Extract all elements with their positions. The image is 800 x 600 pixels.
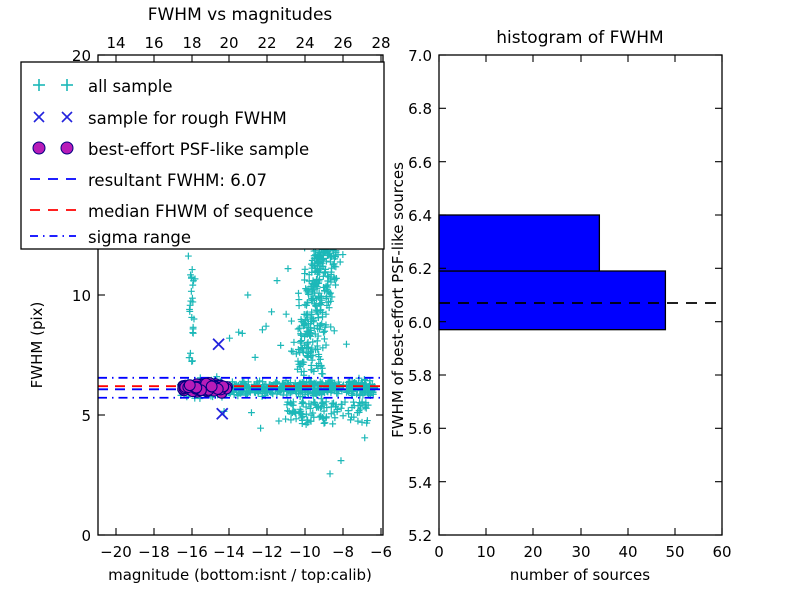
legend-label: sample for rough FWHM [88, 109, 287, 128]
y-tick-label: 6.8 [408, 100, 432, 118]
legend: all sample sample for rough FWHM best-ef… [21, 62, 384, 249]
figure-canvas: FWHM vs magnitudes 14 16 18 20 22 24 26 … [0, 0, 800, 600]
scatter-point [184, 380, 195, 391]
legend-label: resultant FWHM: 6.07 [88, 171, 267, 190]
y-tick-label: 5.2 [408, 527, 432, 545]
y-tick-label: 6.2 [408, 260, 432, 278]
legend-label: best-effort PSF-like sample [88, 140, 309, 159]
left-ylabel: FWHM (pix) [28, 302, 46, 389]
right-panel: histogram of FWHM [389, 28, 732, 584]
matplotlib-figure: FWHM vs magnitudes 14 16 18 20 22 24 26 … [0, 0, 800, 600]
y-tick-label: 6.4 [408, 207, 432, 225]
top-tick-label: 24 [295, 34, 314, 52]
top-tick-label: 26 [333, 34, 352, 52]
x-tick-label: 20 [523, 543, 542, 561]
top-tick-label: 14 [106, 34, 125, 52]
x-tick-label: −14 [213, 543, 245, 561]
histogram-bar [439, 215, 599, 271]
x-tick-label: −20 [100, 543, 132, 561]
x-tick-label: −10 [289, 543, 321, 561]
x-tick-label: −8 [332, 543, 354, 561]
x-tick-label: 0 [434, 543, 444, 561]
y-tick-label: 5 [81, 407, 91, 425]
top-tick-label: 22 [257, 34, 276, 52]
x-tick-label: 30 [571, 543, 590, 561]
x-tick-label: −18 [138, 543, 170, 561]
x-tick-label: −12 [251, 543, 283, 561]
legend-label: median FHWM of sequence [88, 202, 313, 221]
top-tick-label: 28 [371, 34, 390, 52]
top-tick-label: 20 [219, 34, 238, 52]
right-panel-title: histogram of FWHM [496, 28, 663, 48]
scatter-psf-like-sample [178, 378, 233, 399]
y-tick-label: 6.6 [408, 154, 432, 172]
right-xlabel: number of sources [510, 566, 650, 584]
histogram-bar [439, 271, 665, 330]
y-tick-label: 5.8 [408, 367, 432, 385]
x-tick-label: 40 [618, 543, 637, 561]
x-tick-label: −6 [370, 543, 392, 561]
y-tick-label: 7.0 [408, 47, 432, 65]
y-tick-label: 10 [72, 287, 91, 305]
x-tick-label: 50 [665, 543, 684, 561]
left-xlabel: magnitude (bottom:isnt / top:calib) [108, 566, 372, 584]
x-tick-label: 10 [476, 543, 495, 561]
y-tick-label: 6.0 [408, 314, 432, 332]
legend-label: sigma range [88, 228, 191, 247]
top-tick-label: 16 [144, 34, 163, 52]
top-tick-label: 18 [182, 34, 201, 52]
y-tick-label: 0 [81, 527, 91, 545]
scatter-point [206, 381, 217, 392]
y-tick-label: 5.4 [408, 474, 432, 492]
legend-label: all sample [88, 77, 173, 96]
left-panel-title: FWHM vs magnitudes [148, 5, 333, 25]
x-tick-label: 60 [712, 543, 731, 561]
right-ylabel: FWHM of best-effort PSF-like sources [389, 162, 407, 438]
y-tick-label: 5.6 [408, 420, 432, 438]
x-tick-label: −16 [176, 543, 208, 561]
